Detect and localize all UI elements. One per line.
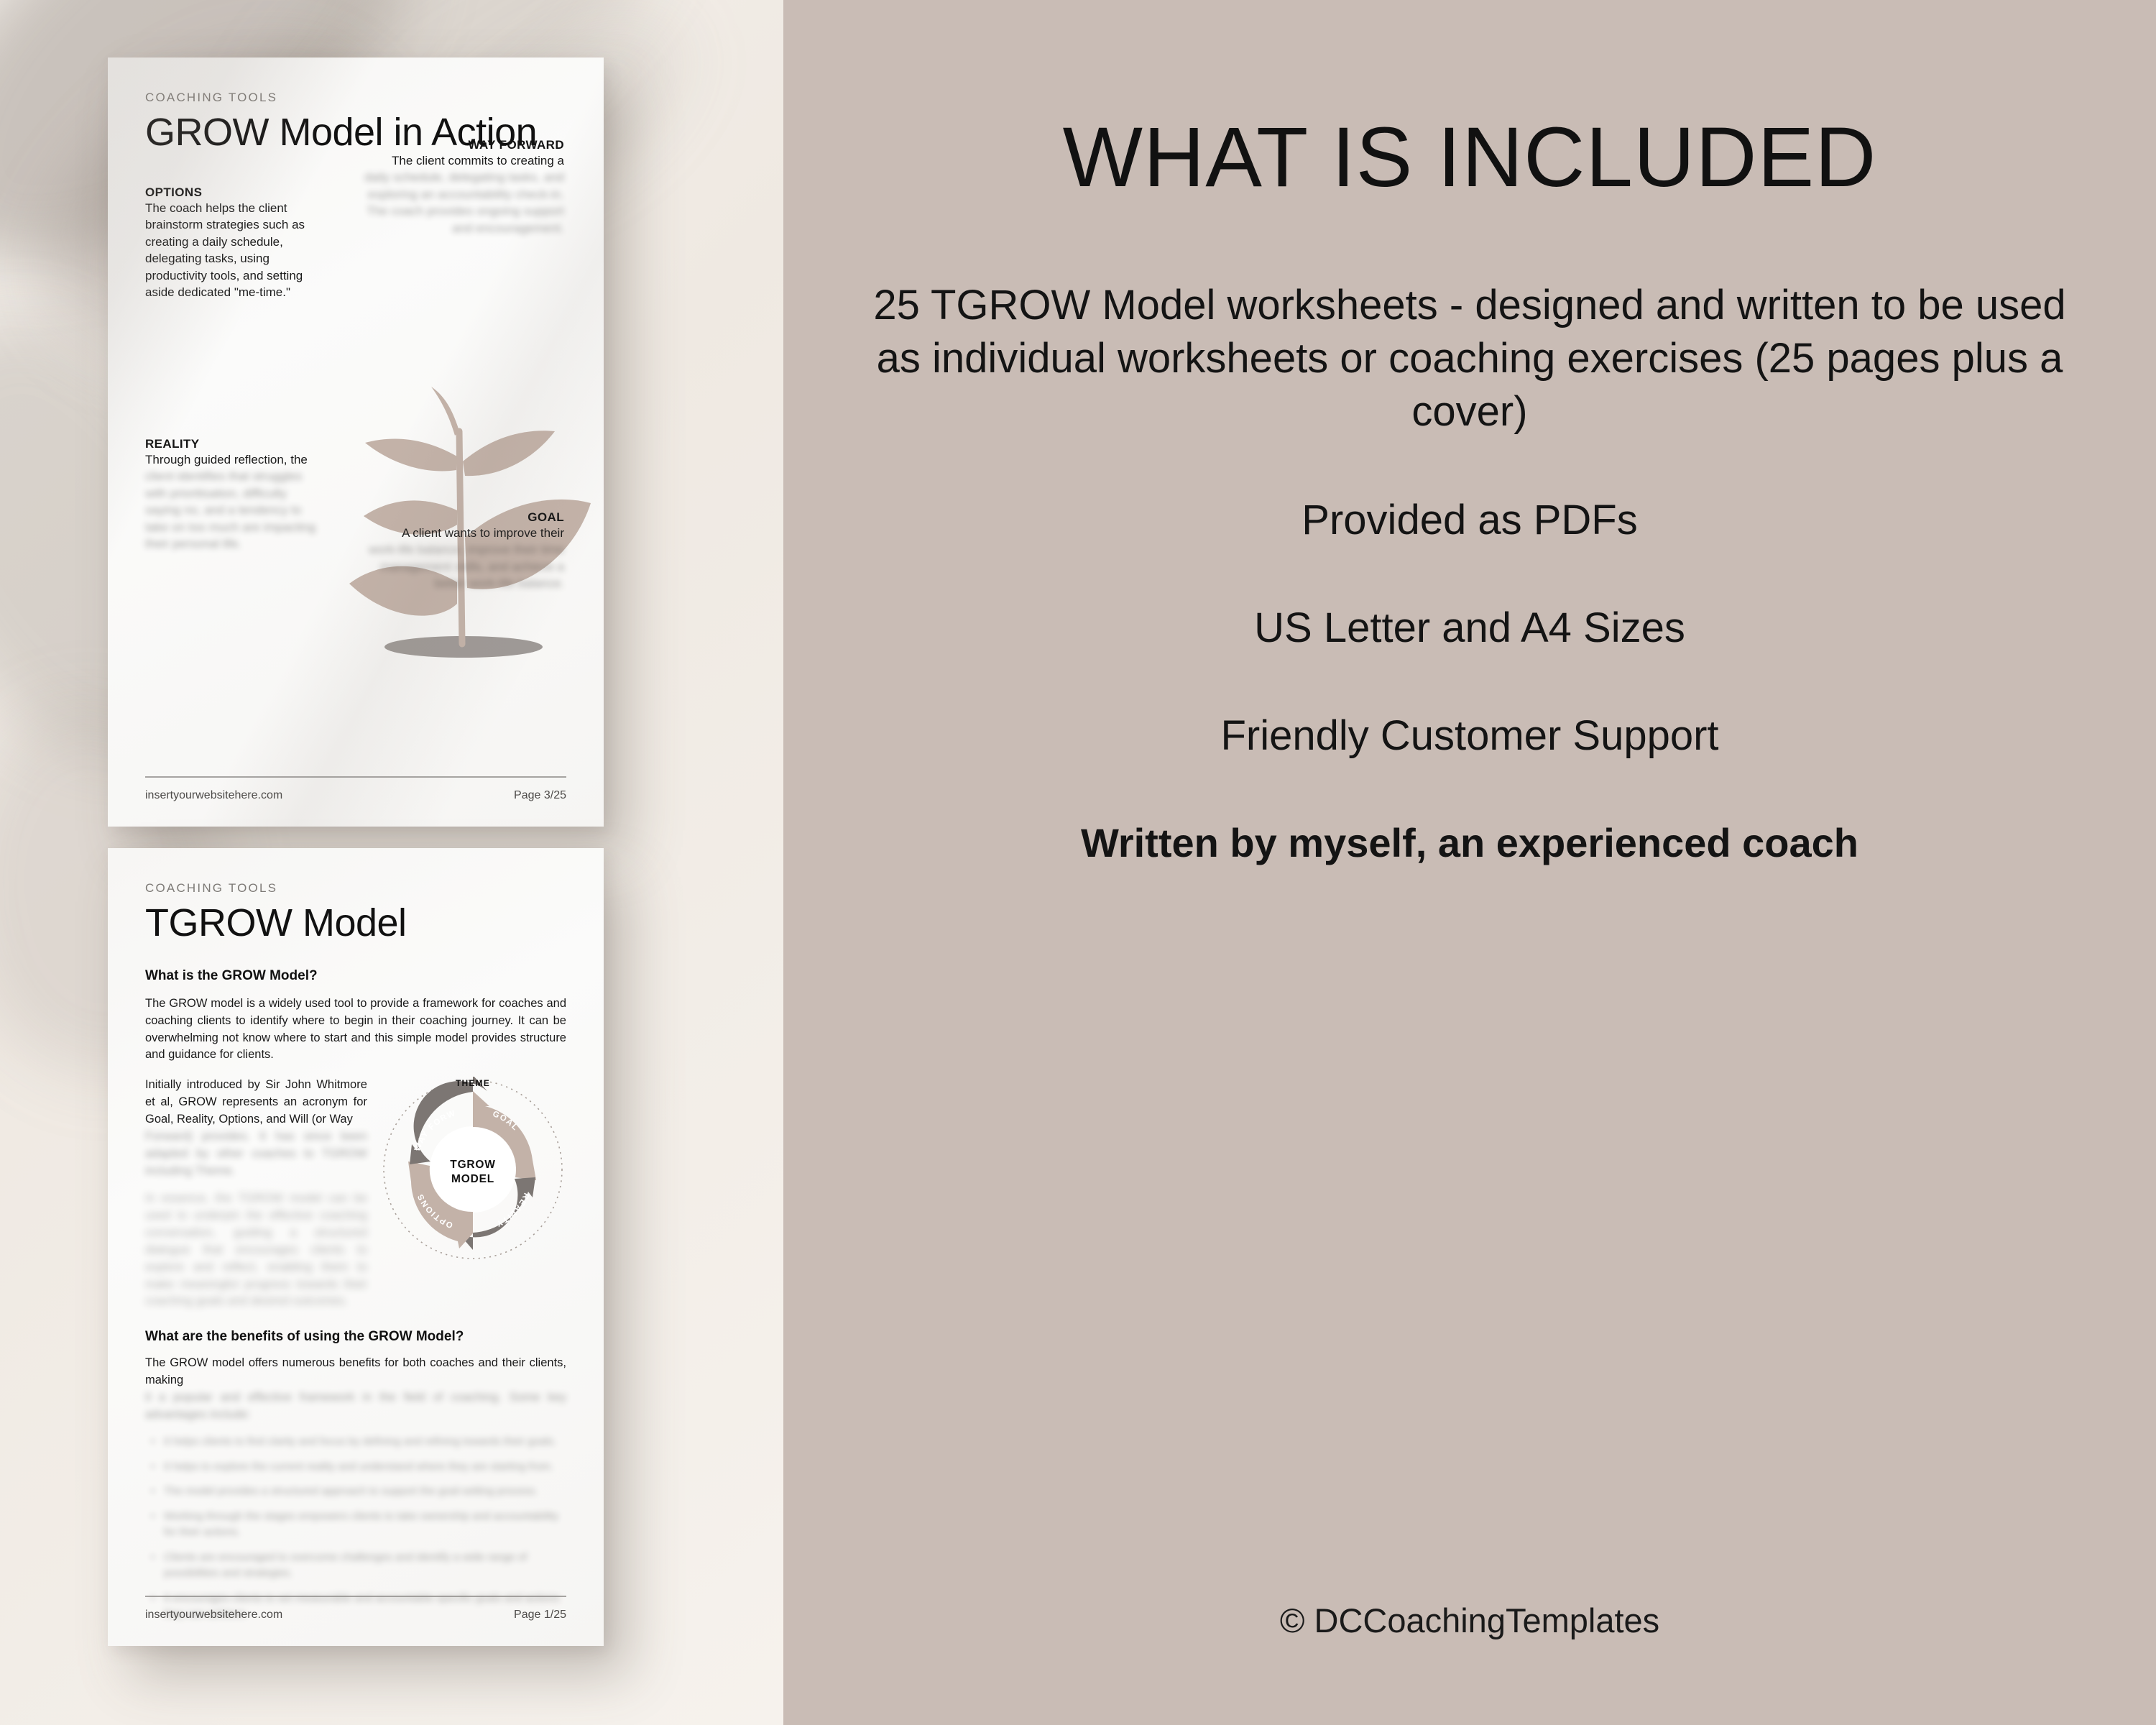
footer-divider (145, 776, 566, 778)
worksheet2-section1-paragraph: The GROW model is a widely used tool to … (145, 995, 566, 1064)
options-label: OPTIONS (145, 185, 314, 200)
reality-text-visible: Through guided reflection, the (145, 451, 325, 468)
way-forward-label: WAY FORWARD (345, 138, 564, 152)
worksheet2-paragraph2-blurred: Forward) provides. It has since been ada… (145, 1128, 367, 1180)
worksheet2-eyebrow: COACHING TOOLS (145, 881, 566, 896)
reality-label: REALITY (145, 437, 325, 451)
worksheet1-footer-website: insertyourwebsitehere.com (145, 789, 282, 802)
footer-divider (145, 1596, 566, 1597)
list-item: The model provides a structured approach… (145, 1483, 566, 1500)
page-title: WHAT IS INCLUDED (1063, 115, 1877, 200)
list-item: It helps clients to find clarity and foc… (145, 1434, 566, 1450)
worksheet1-block-reality: REALITY Through guided reflection, the c… (145, 437, 325, 553)
worksheet1-footer-page: Page 3/25 (514, 789, 566, 802)
list-item: Working through the stages empowers clie… (145, 1509, 566, 1541)
worksheet1-block-options: OPTIONS The coach helps the client brain… (145, 185, 314, 301)
included-item-worksheets: 25 TGROW Model worksheets - designed and… (873, 279, 2066, 439)
worksheet2-title: TGROW Model (145, 903, 566, 944)
worksheet2-paragraph2-visible: Initially introduced by Sir John Whitmor… (145, 1077, 367, 1128)
goal-label: GOAL (356, 510, 564, 525)
donut-theme-label: THEME (456, 1078, 490, 1088)
included-item-support: Friendly Customer Support (873, 709, 2066, 763)
included-item-sizes: US Letter and A4 Sizes (873, 602, 2066, 655)
reality-text-blurred: client identifies that struggles with pr… (145, 468, 325, 552)
worksheet2-section1-heading: What is the GROW Model? (145, 968, 566, 984)
way-forward-text-blurred: daily schedule, delegating tasks, and ex… (345, 169, 564, 236)
worksheet1-block-goal: GOAL A client wants to improve their wor… (356, 510, 564, 592)
included-items-list: 25 TGROW Model worksheets - designed and… (873, 279, 2066, 924)
goal-text-blurred: work-life balance, improve their time ma… (356, 541, 564, 592)
way-forward-text-visible: The client commits to creating a (345, 152, 564, 169)
worksheet1-eyebrow: COACHING TOOLS (145, 91, 566, 105)
included-item-pdfs: Provided as PDFs (873, 494, 2066, 547)
donut-center-line2: MODEL (451, 1173, 494, 1185)
goal-text-visible: A client wants to improve their (356, 525, 564, 541)
worksheet1-block-way-forward: WAY FORWARD The client commits to creati… (345, 138, 564, 236)
left-mockup-panel: COACHING TOOLS GROW Model in Action OPTI… (0, 0, 783, 1725)
worksheet-preview-tgrow-model[interactable]: COACHING TOOLS TGROW Model What is the G… (108, 848, 604, 1646)
worksheet2-footer: insertyourwebsitehere.com Page 1/25 (145, 1596, 566, 1621)
worksheet2-footer-page: Page 1/25 (514, 1609, 566, 1621)
worksheet2-footer-website: insertyourwebsitehere.com (145, 1609, 282, 1621)
list-item: It helps to explore the current reality … (145, 1459, 566, 1476)
worksheet2-section2-paragraph-blurred: it a popular and effective framework in … (145, 1389, 566, 1424)
included-item-author: Written by myself, an experienced coach (873, 817, 2066, 869)
copyright-notice: © DCCoachingTemplates (783, 1601, 2156, 1640)
worksheet2-paragraph3-blurred: In essence, the TGROW model can be used … (145, 1190, 367, 1310)
options-text: The coach helps the client brainstorm st… (145, 200, 314, 301)
what-is-included-panel: WHAT IS INCLUDED 25 TGROW Model workshee… (783, 0, 2156, 1725)
donut-center-line1: TGROW (450, 1159, 495, 1171)
list-item: Clients are encouraged to overcome chall… (145, 1550, 566, 1582)
worksheet2-benefits-list: It helps clients to find clarity and foc… (145, 1434, 566, 1623)
tgrow-donut-diagram: GOAL REALITY OPTIONS WAY FORWARD (380, 1077, 566, 1262)
worksheet2-section2-heading: What are the benefits of using the GROW … (145, 1329, 566, 1345)
worksheet-preview-grow-in-action[interactable]: COACHING TOOLS GROW Model in Action OPTI… (108, 57, 604, 827)
worksheet1-footer: insertyourwebsitehere.com Page 3/25 (145, 776, 566, 802)
worksheet2-section2-paragraph-visible: The GROW model offers numerous benefits … (145, 1355, 566, 1389)
